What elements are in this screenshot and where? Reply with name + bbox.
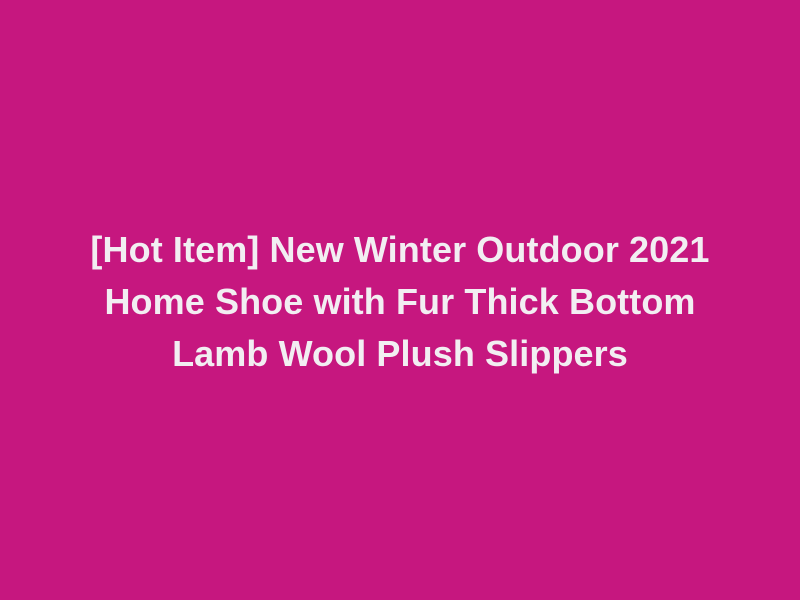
product-title-line-3: Lamb Wool Plush Slippers: [40, 328, 760, 380]
product-title-line-1: [Hot Item] New Winter Outdoor 2021: [40, 224, 760, 276]
product-title-card: [Hot Item] New Winter Outdoor 2021 Home …: [0, 0, 800, 600]
product-title-line-2: Home Shoe with Fur Thick Bottom: [40, 276, 760, 328]
product-title-block: [Hot Item] New Winter Outdoor 2021 Home …: [20, 224, 780, 380]
